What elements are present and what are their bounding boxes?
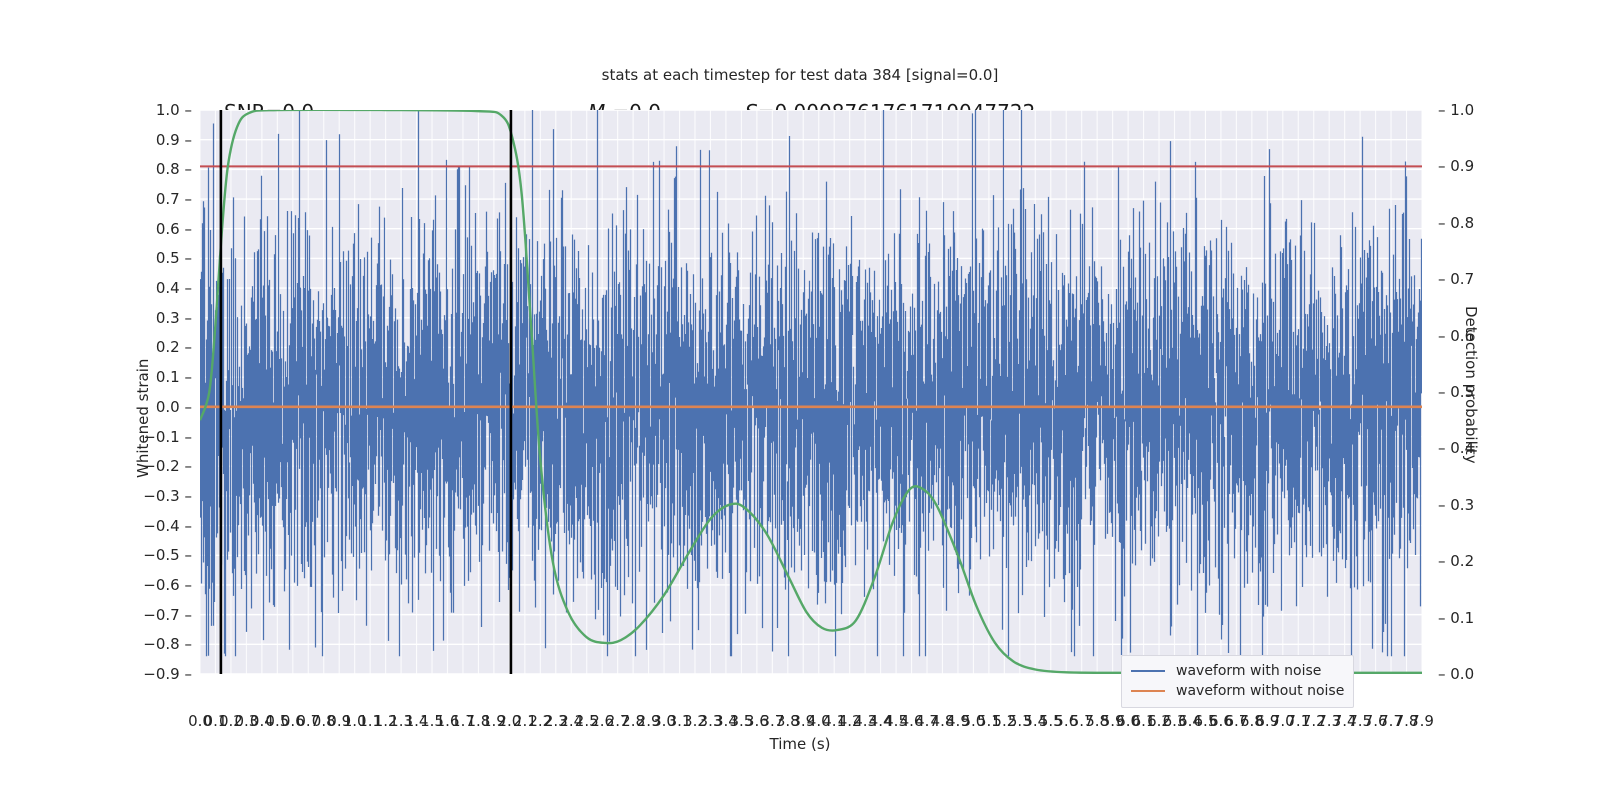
y-tick-right: – 0.6 (1438, 327, 1498, 345)
y-tick-left: −0.2 – (132, 457, 192, 475)
x-tick: 7.9 (1410, 712, 1434, 730)
y-tick-left: 0.7 – (132, 190, 192, 208)
y-tick-right: – 0.0 (1438, 665, 1498, 683)
legend-item-without-noise: waveform without noise (1131, 681, 1344, 701)
y-tick-left: −0.6 – (132, 576, 192, 594)
y-tick-right: – 1.0 (1438, 101, 1498, 119)
chart-title: stats at each timestep for test data 384… (0, 66, 1600, 84)
y-tick-left: 0.0 – (132, 398, 192, 416)
y-tick-right: – 0.1 (1438, 609, 1498, 627)
y-tick-right: – 0.8 (1438, 214, 1498, 232)
figure: stats at each timestep for test data 384… (0, 0, 1600, 800)
y-tick-right: – 0.9 (1438, 157, 1498, 175)
y-tick-right: – 0.5 (1438, 383, 1498, 401)
y-tick-right: – 0.3 (1438, 496, 1498, 514)
y-tick-right: – 0.2 (1438, 552, 1498, 570)
y-tick-right: – 0.7 (1438, 270, 1498, 288)
y-tick-left: −0.3 – (132, 487, 192, 505)
legend-swatch-without-noise (1131, 690, 1165, 692)
y-tick-right: – 0.4 (1438, 439, 1498, 457)
legend: waveform with noise waveform without noi… (1121, 655, 1354, 708)
y-tick-left: 1.0 – (132, 101, 192, 119)
series-waveform-with-noise (201, 110, 1422, 656)
y-tick-left: 0.8 – (132, 160, 192, 178)
y-tick-left: 0.6 – (132, 220, 192, 238)
y-tick-left: −0.7 – (132, 606, 192, 624)
y-tick-left: 0.1 – (132, 368, 192, 386)
y-tick-left: 0.5 – (132, 249, 192, 267)
y-tick-left: −0.5 – (132, 546, 192, 564)
y-tick-left: −0.4 – (132, 517, 192, 535)
x-axis-label: Time (s) (0, 735, 1600, 753)
legend-swatch-with-noise (1131, 670, 1165, 672)
plot-canvas (200, 110, 1422, 674)
y-tick-left: 0.4 – (132, 279, 192, 297)
y-tick-left: 0.2 – (132, 338, 192, 356)
y-tick-left: 0.3 – (132, 309, 192, 327)
legend-label-without-noise: waveform without noise (1176, 683, 1344, 699)
y-tick-left: −0.8 – (132, 635, 192, 653)
y-tick-left: −0.9 – (132, 665, 192, 683)
legend-label-with-noise: waveform with noise (1176, 663, 1321, 679)
plot-area[interactable] (200, 110, 1422, 674)
legend-item-with-noise: waveform with noise (1131, 661, 1344, 681)
y-tick-left: 0.9 – (132, 131, 192, 149)
y-tick-left: −0.1 – (132, 428, 192, 446)
